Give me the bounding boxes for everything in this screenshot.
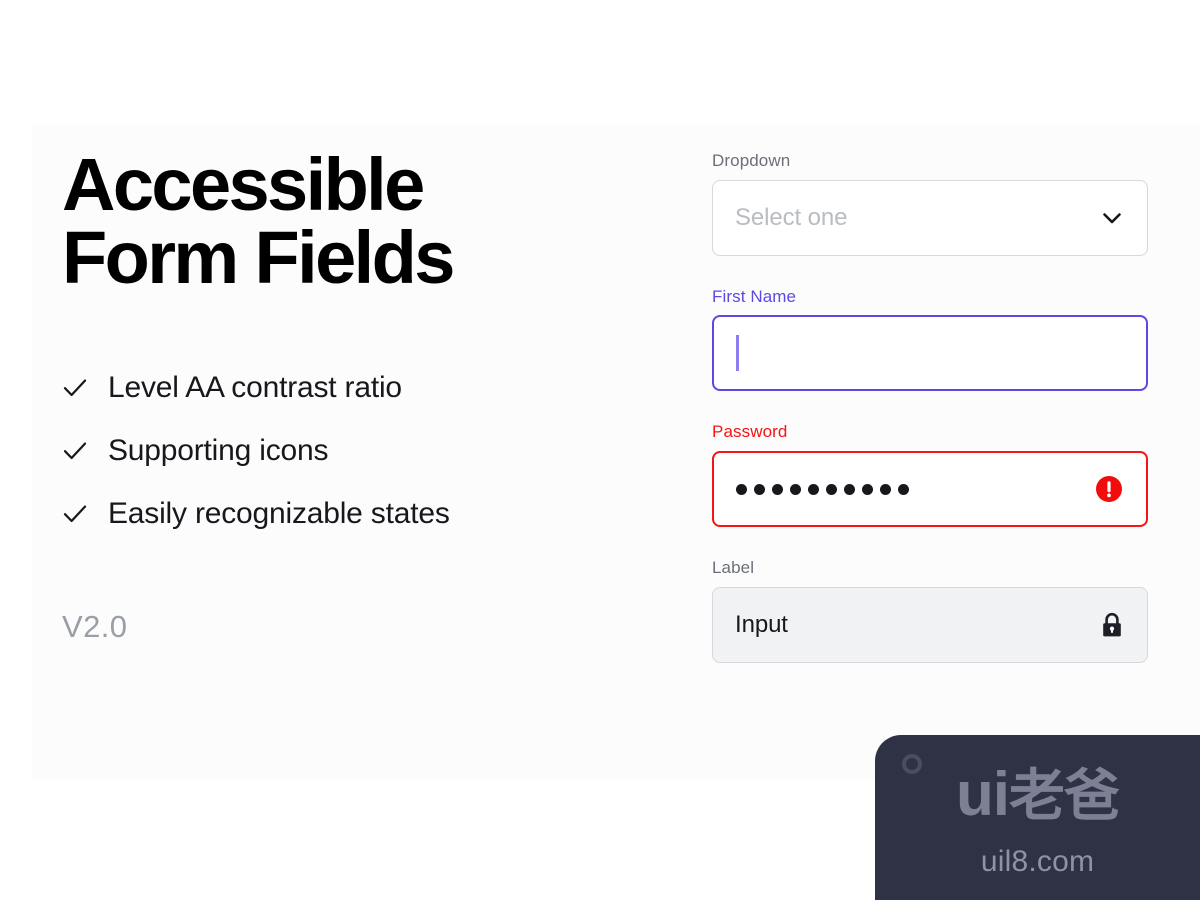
watermark-logo: ui老爸: [875, 764, 1200, 826]
check-icon: [62, 501, 88, 527]
form-fields-column: Dropdown Select one First Name Password: [712, 152, 1148, 663]
list-item: Supporting icons: [62, 436, 672, 466]
list-item-label: Easily recognizable states: [108, 499, 450, 529]
locked-input-value: Input: [735, 613, 788, 637]
field-dropdown: Dropdown Select one: [712, 152, 1148, 256]
screenshot-root: Accessible Form Fields Level AA contrast…: [0, 0, 1200, 900]
field-first-name: First Name: [712, 288, 1148, 392]
field-dropdown-label: Dropdown: [712, 152, 1148, 171]
list-item: Level AA contrast ratio: [62, 373, 672, 403]
watermark-logo-cjk: 老爸: [1009, 764, 1119, 829]
list-item: Easily recognizable states: [62, 499, 672, 529]
dropdown-select[interactable]: Select one: [712, 180, 1148, 256]
field-password: Password: [712, 423, 1148, 527]
page-title-line-2: Form Fields: [62, 221, 672, 294]
first-name-input[interactable]: [712, 315, 1148, 391]
dropdown-placeholder: Select one: [735, 206, 847, 230]
feature-list: Level AA contrast ratio Supporting icons…: [62, 373, 672, 529]
check-icon: [62, 375, 88, 401]
field-locked-input: Label Input: [712, 559, 1148, 663]
check-icon: [62, 438, 88, 464]
watermark-url: uil8.com: [875, 845, 1200, 879]
error-circle-icon: [1094, 474, 1124, 504]
version-label: V2.0: [62, 609, 672, 645]
field-locked-input-label: Label: [712, 559, 1148, 578]
field-first-name-label: First Name: [712, 288, 1148, 307]
page-title-line-1: Accessible: [62, 148, 672, 221]
watermark-logo-latin: ui: [956, 760, 1009, 829]
chevron-down-icon[interactable]: [1099, 205, 1125, 231]
page-title: Accessible Form Fields: [62, 148, 672, 295]
list-item-label: Supporting icons: [108, 436, 328, 466]
password-input[interactable]: [712, 451, 1148, 527]
list-item-label: Level AA contrast ratio: [108, 373, 402, 403]
lock-icon: [1099, 611, 1125, 639]
hero-section: Accessible Form Fields Level AA contrast…: [62, 148, 672, 645]
locked-input: Input: [712, 587, 1148, 663]
field-password-label: Password: [712, 423, 1148, 442]
watermark-card: ui老爸 uil8.com: [875, 735, 1200, 900]
password-masked-value: [736, 484, 909, 495]
text-caret: [736, 335, 739, 371]
